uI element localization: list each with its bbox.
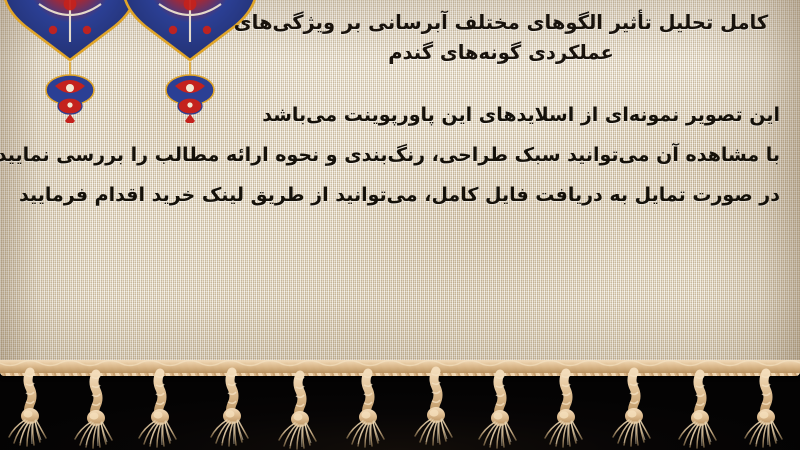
slide-title-line-1: کامل تحلیل تأثیر الگوهای مختلف آبرسانی ب… [234,11,768,34]
slide-title: کامل تحلیل تأثیر الگوهای مختلف آبرسانی ب… [220,8,782,67]
slide-body: این تصویر نمونه‌ای از اسلایدهای این پاور… [18,106,780,226]
body-line-1: این تصویر نمونه‌ای از اسلایدهای این پاور… [18,106,780,125]
presentation-slide: کامل تحلیل تأثیر الگوهای مختلف آبرسانی ب… [0,0,800,450]
slide-title-line-2: عملکردی گونه‌های گندم [388,41,614,64]
carpet-fringe-tassels [0,360,800,450]
body-line-3: در صورت تمایل به دریافت فایل کامل، می‌تو… [18,186,780,205]
body-line-2: با مشاهده آن می‌توانید سبک طراحی، رنگ‌بن… [18,146,780,165]
fringe-svg [0,360,800,450]
